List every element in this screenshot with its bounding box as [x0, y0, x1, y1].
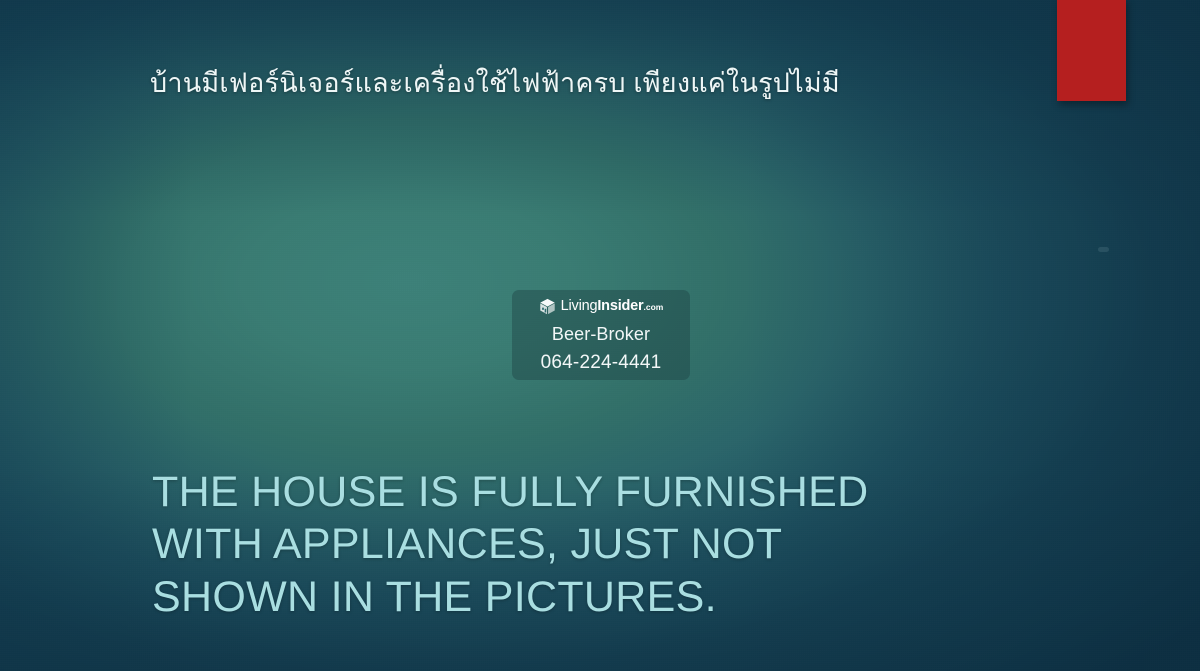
watermark-brand: LivingInsider.com: [561, 299, 664, 314]
brand-living: Living: [561, 298, 598, 314]
red-accent-block: [1057, 0, 1126, 101]
presentation-slide: บ้านมีเฟอร์นิเจอร์และเครื่องใช้ไฟฟ้าครบ …: [0, 0, 1200, 671]
brand-insider: Insider: [597, 298, 643, 314]
livinginsider-watermark-badge: LivingInsider.com Beer-Broker 064-224-44…: [512, 290, 690, 380]
watermark-phone-number: 064-224-4441: [541, 353, 662, 372]
background-speck-artifact: [1098, 247, 1109, 252]
brand-tld: .com: [644, 302, 664, 312]
slide-headline-english: THE HOUSE IS FULLY FURNISHED WITH APPLIA…: [152, 466, 942, 623]
watermark-agent-name: Beer-Broker: [552, 325, 650, 343]
slide-title-thai: บ้านมีเฟอร์นิเจอร์และเครื่องใช้ไฟฟ้าครบ …: [150, 64, 1050, 103]
isometric-cube-icon: [539, 298, 556, 315]
watermark-logo-row: LivingInsider.com: [539, 296, 664, 316]
